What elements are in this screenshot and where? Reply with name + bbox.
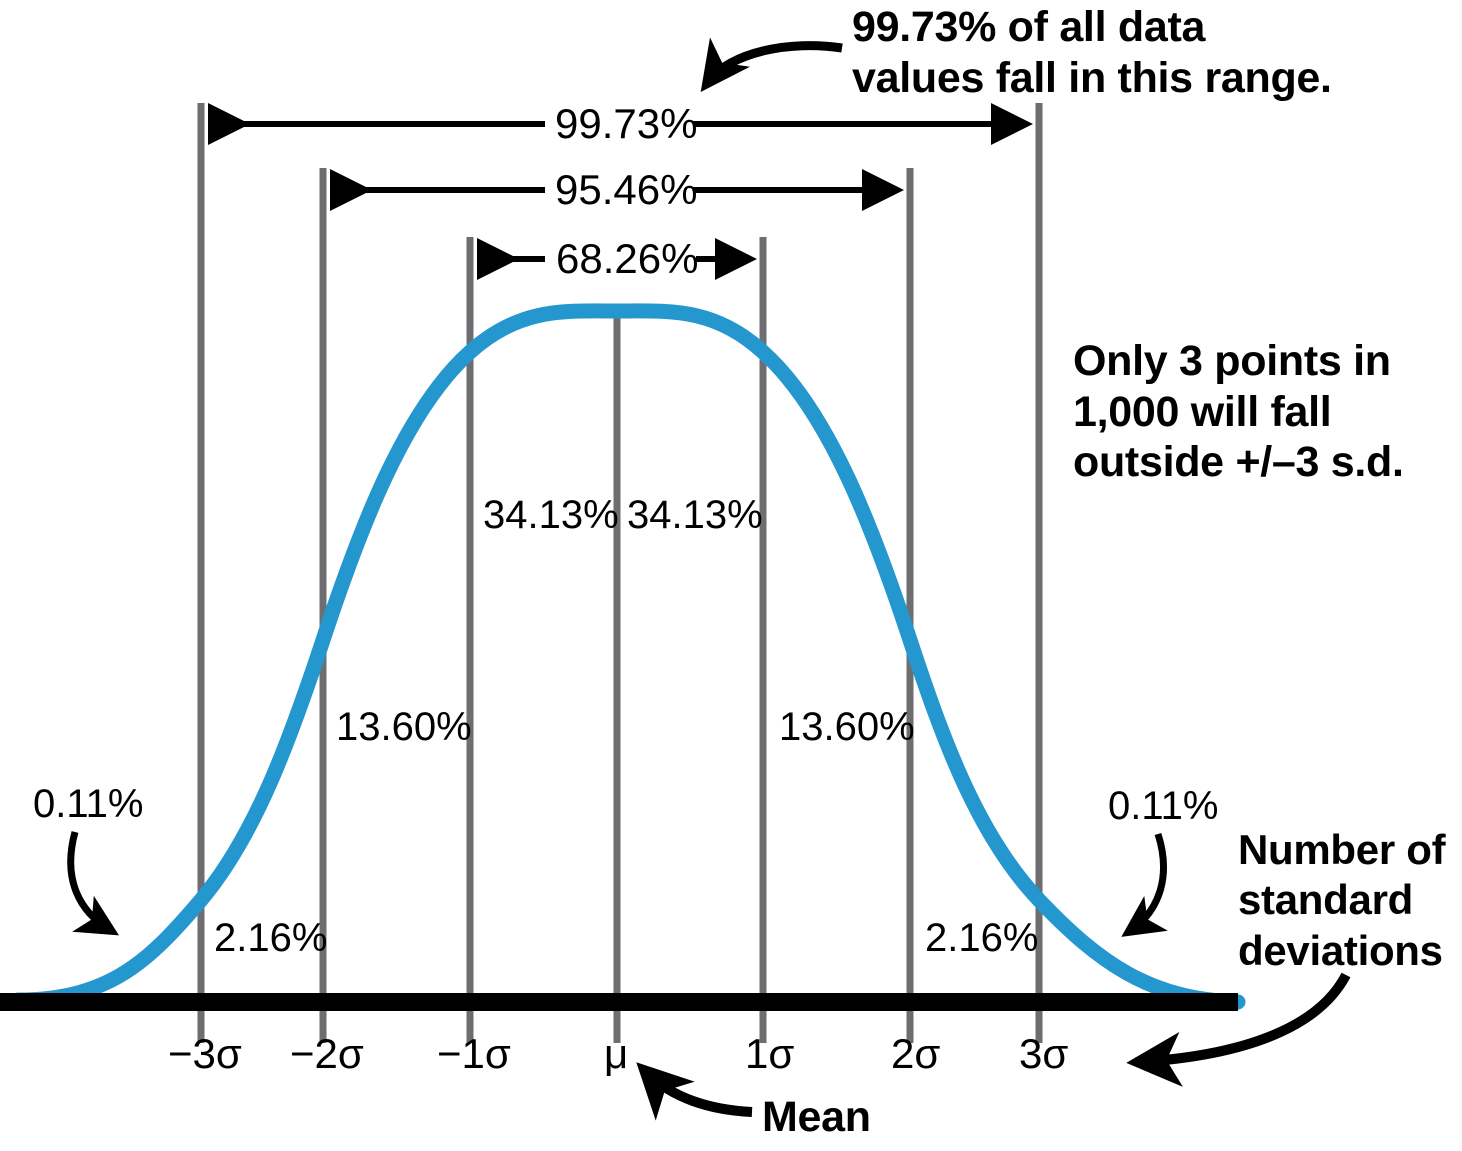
callout-top-right-line1: 99.73% of all data (852, 2, 1332, 53)
callout-right-middle-line1: Only 3 points in (1073, 336, 1404, 387)
callout-arrow-left-tail (71, 832, 110, 930)
range-label-6826: 68.26% (556, 238, 698, 280)
axis-tick-label-minus-3-sigma: −3σ (168, 1033, 242, 1075)
normal-distribution-figure: 99.73% of all data values fall in this r… (0, 0, 1462, 1151)
callout-right-bottom-line3: deviations (1238, 926, 1445, 976)
region-label-left-tail-outer: 0.11% (33, 784, 143, 824)
range-label-9546: 95.46% (555, 169, 697, 211)
callout-arrow-right-tail (1130, 834, 1163, 931)
region-label-left-3-to-2: 2.16% (214, 918, 327, 958)
callout-right-bottom-line2: standard (1238, 875, 1445, 925)
callout-right-middle: Only 3 points in 1,000 will fall outside… (1073, 336, 1404, 488)
axis-tick-label-plus-3-sigma: 3σ (1019, 1033, 1068, 1075)
region-label-right-1-to-2: 13.60% (779, 707, 915, 747)
callout-right-bottom-line1: Number of (1238, 825, 1445, 875)
region-label-right-mean-to-1: 34.13% (627, 495, 763, 535)
callout-right-middle-line3: outside +/–3 s.d. (1073, 437, 1404, 488)
axis-tick-label-plus-1-sigma: 1σ (745, 1033, 794, 1075)
callout-right-middle-line2: 1,000 will fall (1073, 387, 1404, 438)
callout-arrow-mean (646, 1072, 752, 1112)
axis-tick-label-mean: μ (604, 1033, 628, 1075)
callout-right-bottom: Number of standard deviations (1238, 825, 1445, 976)
region-label-right-tail-outer: 0.11% (1108, 786, 1218, 826)
range-label-9973: 99.73% (555, 103, 697, 145)
axis-tick-label-plus-2-sigma: 2σ (891, 1033, 940, 1075)
axis-tick-label-minus-2-sigma: −2σ (290, 1033, 364, 1075)
axis-tick-label-minus-1-sigma: −1σ (437, 1033, 511, 1075)
region-label-left-2-to-1: 13.60% (336, 707, 472, 747)
callout-arrow-top-right (708, 46, 842, 82)
callout-top-right-line2: values fall in this range. (852, 53, 1332, 104)
region-label-right-2-to-3: 2.16% (925, 918, 1038, 958)
distribution-svg (0, 0, 1462, 1151)
callout-mean-label: Mean (762, 1092, 871, 1143)
region-label-left-1-to-mean: 34.13% (483, 495, 619, 535)
callout-top-right: 99.73% of all data values fall in this r… (852, 2, 1332, 103)
horizontal-axis (0, 993, 1238, 1011)
